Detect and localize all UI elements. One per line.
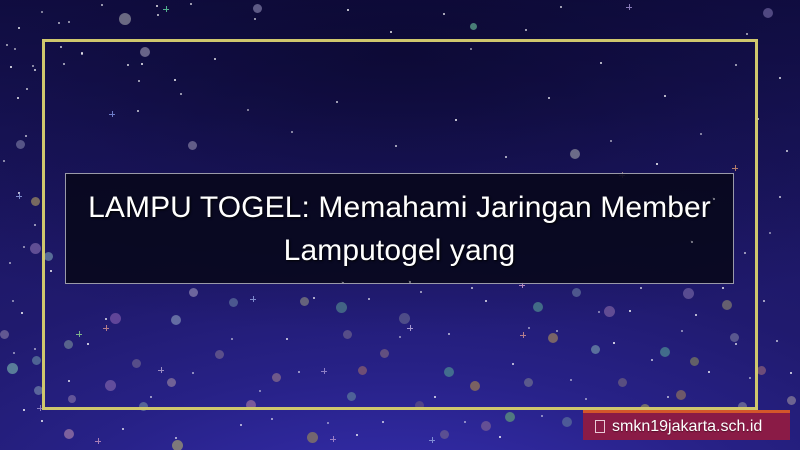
thumbnail-canvas: LAMPU TOGEL: Memahami Jaringan Member La… [0, 0, 800, 450]
missing-glyph-box-icon [595, 420, 605, 433]
site-badge-label: smkn19jakarta.sch.id [612, 418, 762, 436]
site-badge[interactable]: smkn19jakarta.sch.id [583, 410, 790, 440]
star-dot [342, 282, 344, 284]
title-card: LAMPU TOGEL: Memahami Jaringan Member La… [65, 173, 734, 284]
page-title: LAMPU TOGEL: Memahami Jaringan Member La… [66, 186, 733, 272]
star-dot [409, 281, 411, 283]
